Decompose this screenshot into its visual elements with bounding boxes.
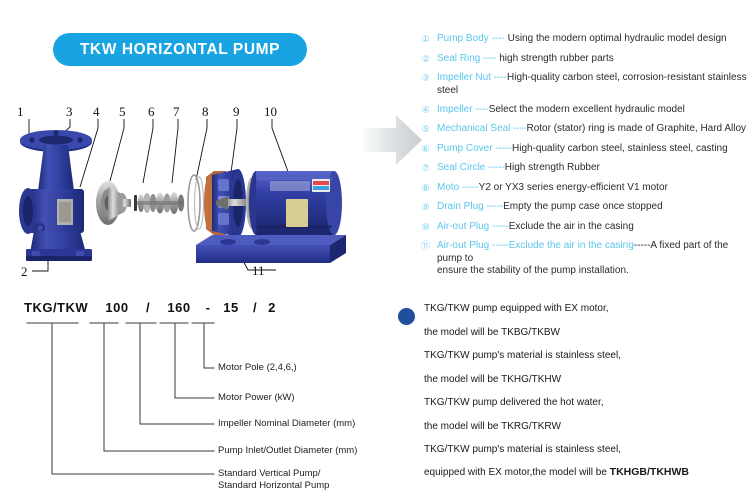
legend-item: ③ Impeller Nut ----High-quality carbon s…: [418, 72, 753, 97]
svg-text:7: 7: [173, 104, 180, 119]
legend-item: ⑥ Pump Cover -----High-quality carbon st…: [418, 143, 753, 156]
note-line: TKG/TKW pump's material is stainless ste…: [424, 444, 748, 457]
legend-description-secondary: Exclude the air in the casing: [509, 240, 634, 251]
legend-description: Rotor (stator) ring is made of Graphite,…: [526, 123, 746, 134]
legend-part-name: Mechanical Seal: [437, 123, 510, 134]
legend-dash: -----: [484, 201, 503, 212]
legend-part-name: Air-out Plug: [437, 221, 489, 232]
legend-dash: ----: [510, 123, 526, 134]
legend-part-name: Drain Plug: [437, 201, 484, 212]
legend-item: ⑨ Drain Plug -----Empty the pump case on…: [418, 201, 753, 214]
page-title-banner: TKW HORIZONTAL PUMP: [53, 33, 307, 66]
legend-number-icon: ⑨: [418, 202, 433, 214]
note-line: the model will be TKRG/TKRW: [424, 421, 748, 434]
legend-description: High-quality carbon steel, stainless ste…: [512, 143, 728, 154]
svg-text:2: 2: [21, 264, 28, 279]
model-code-label-standard-vertical: Standard Vertical Pump/: [218, 468, 320, 480]
legend-number-icon: ③: [418, 73, 433, 85]
legend-part-name: Air-out Plug: [437, 240, 489, 251]
legend-text: Air-out Plug -----Exclude the air in the…: [437, 240, 753, 278]
part-seal-circle: [188, 175, 204, 231]
svg-text:9: 9: [233, 104, 240, 119]
legend-number-icon: ⑥: [418, 144, 433, 156]
legend-part-name: Seal Ring: [437, 53, 480, 64]
note-line: TKG/TKW pump delivered the hot water,: [424, 397, 748, 410]
notes-lines: TKG/TKW pump equipped with EX motor, the…: [424, 303, 748, 479]
legend-number-icon: ⑤: [418, 124, 433, 136]
legend-text: Seal Circle -----High strength Rubber: [437, 162, 753, 175]
svg-text:4: 4: [93, 104, 100, 119]
model-code-label-motor-pole: Motor Pole (2,4,6,): [218, 362, 297, 374]
legend-number-icon: ⑧: [418, 183, 433, 195]
model-code-label-motor-power: Motor Power (kW): [218, 392, 295, 404]
legend-dash: -----: [489, 240, 508, 251]
svg-text:1: 1: [17, 104, 24, 119]
legend-description: Using the modern optimal hydraulic model…: [508, 33, 727, 44]
svg-text:8: 8: [202, 104, 209, 119]
legend-text: Pump Cover -----High-quality carbon stee…: [437, 143, 753, 156]
model-code-label-inlet-dia: Pump Inlet/Outlet Diameter (mm): [218, 445, 357, 457]
legend-dash: -----: [493, 143, 512, 154]
note-line: TKG/TKW pump equipped with EX motor,: [424, 303, 748, 316]
legend-dash: ----: [480, 53, 499, 64]
component-legend-list: ① Pump Body ---- Using the modern optima…: [418, 33, 753, 284]
flow-arrow: [362, 112, 424, 168]
legend-number-icon: ①: [418, 34, 433, 46]
model-code-label-impeller-dia: Impeller Nominal Diameter (mm): [218, 418, 355, 430]
legend-dash: -----: [485, 162, 504, 173]
legend-item: ① Pump Body ---- Using the modern optima…: [418, 33, 753, 46]
note-line-text: equipped with EX motor,the model will be: [424, 467, 610, 478]
pump-assembly-svg: 1 3 4 5 6 7 8 9 10 2 11: [0, 95, 400, 295]
page-title: TKW HORIZONTAL PUMP: [80, 41, 280, 59]
legend-item: ⑩ Air-out Plug -----Exclude the air in t…: [418, 221, 753, 234]
note-line-with-model: equipped with EX motor,the model will be…: [424, 466, 748, 480]
legend-description: high strength rubber parts: [499, 53, 614, 64]
svg-text:11: 11: [252, 263, 265, 278]
note-line: TKG/TKW pump's material is stainless ste…: [424, 350, 748, 363]
part-pump-body: [19, 130, 92, 261]
legend-description: Exclude the air in the casing: [509, 221, 634, 232]
note-model-code: TKHGB/TKHWB: [610, 466, 689, 478]
svg-text:5: 5: [119, 104, 126, 119]
model-code-labels: Motor Pole (2,4,6,) Motor Power (kW) Imp…: [0, 296, 400, 500]
legend-dash: ----: [489, 33, 508, 44]
note-line: the model will be TKBG/TKBW: [424, 327, 748, 340]
legend-number-icon: ②: [418, 54, 433, 66]
legend-dash: -----: [459, 182, 478, 193]
legend-part-name: Impeller: [437, 104, 473, 115]
legend-number-icon: ⑦: [418, 163, 433, 175]
legend-part-name: Pump Cover: [437, 143, 493, 154]
part-impeller-hub: [96, 181, 131, 225]
page-root: TKW HORIZONTAL PUMP: [0, 0, 756, 500]
legend-text: Moto -----Y2 or YX3 series energy-effici…: [437, 182, 753, 195]
svg-text:3: 3: [66, 104, 73, 119]
legend-description: Y2 or YX3 series energy-efficient V1 mot…: [479, 182, 668, 193]
legend-dash: ----: [473, 104, 489, 115]
legend-description: Select the modern excellent hydraulic mo…: [489, 104, 685, 115]
legend-description-continued: ensure the stability of the pump install…: [437, 265, 753, 278]
legend-text: Impeller ----Select the modern excellent…: [437, 104, 753, 117]
legend-text: Pump Body ---- Using the modern optimal …: [437, 33, 753, 46]
legend-item: ⑤ Mechanical Seal ----Rotor (stator) rin…: [418, 123, 753, 136]
model-code-label-standard-horizontal: Standard Horizontal Pump: [218, 480, 329, 492]
bullet-dot-icon: [398, 308, 415, 325]
legend-part-name: Seal Circle: [437, 162, 485, 173]
svg-text:10: 10: [264, 104, 277, 119]
legend-number-icon: ⑪: [418, 241, 433, 253]
note-line: the model will be TKHG/TKHW: [424, 374, 748, 387]
legend-text: Impeller Nut ----High-quality carbon ste…: [437, 72, 753, 97]
legend-item: ④ Impeller ----Select the modern excelle…: [418, 104, 753, 117]
model-variant-notes: TKG/TKW pump equipped with EX motor, the…: [398, 303, 748, 479]
legend-part-name: Impeller Nut: [437, 72, 491, 83]
pump-exploded-diagram: 1 3 4 5 6 7 8 9 10 2 11: [0, 95, 400, 295]
legend-description: Empty the pump case once stopped: [503, 201, 663, 212]
legend-text: Mechanical Seal ----Rotor (stator) ring …: [437, 123, 753, 136]
legend-description: High strength Rubber: [505, 162, 600, 173]
legend-number-icon: ④: [418, 105, 433, 117]
legend-item: ② Seal Ring ---- high strength rubber pa…: [418, 53, 753, 66]
legend-number-icon: ⑩: [418, 222, 433, 234]
legend-text: Seal Ring ---- high strength rubber part…: [437, 53, 753, 66]
svg-text:6: 6: [148, 104, 155, 119]
legend-item: ⑧ Moto -----Y2 or YX3 series energy-effi…: [418, 182, 753, 195]
model-code-designation: TKG/TKW100/160-15/2: [0, 296, 400, 500]
part-seal-stack: [134, 192, 184, 214]
legend-item: ⑪ Air-out Plug -----Exclude the air in t…: [418, 240, 753, 278]
legend-dash: ----: [491, 72, 507, 83]
legend-part-name: Pump Body: [437, 33, 489, 44]
part-motor-body: [249, 171, 342, 241]
legend-dash: -----: [489, 221, 508, 232]
legend-text: Air-out Plug -----Exclude the air in the…: [437, 221, 753, 234]
legend-text: Drain Plug -----Empty the pump case once…: [437, 201, 753, 214]
part-base-plate: [196, 235, 346, 263]
legend-part-name: Moto: [437, 182, 459, 193]
legend-item: ⑦ Seal Circle -----High strength Rubber: [418, 162, 753, 175]
